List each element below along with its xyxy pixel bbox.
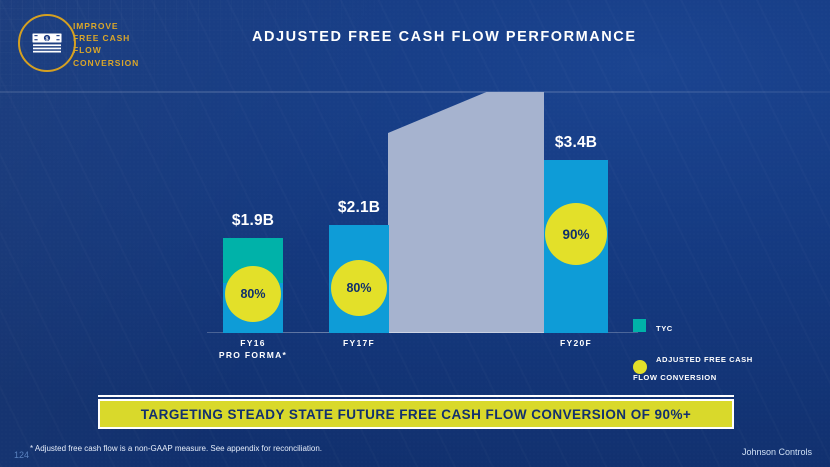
conversion-bubble-fy16: 80% <box>225 266 281 322</box>
category-label-fy16-line-2: PRO FORMA* <box>219 350 287 362</box>
bar-value-label-fy17f: $2.1B <box>338 199 380 217</box>
category-label-fy20f-line-1: FY20F <box>560 338 592 350</box>
svg-text:$: $ <box>46 36 49 42</box>
category-label-fy16-line-1: FY16 <box>219 338 287 350</box>
legend-swatch-tyc <box>633 319 646 332</box>
badge-caption: IMPROVE FREE CASH FLOW CONVERSION <box>73 20 139 69</box>
bar-value-label-fy16: $1.9B <box>232 212 274 230</box>
legend-label-tyc: TYC <box>656 324 673 333</box>
category-label-fy16: FY16 PRO FORMA* <box>219 338 287 361</box>
category-label-fy17f: FY17F <box>343 338 375 350</box>
badge-caption-line-1: IMPROVE <box>73 20 139 32</box>
legend-item-conversion[interactable]: ADJUSTED FREE CASH FLOW CONVERSION <box>633 349 753 385</box>
callout-banner: TARGETING STEADY STATE FUTURE FREE CASH … <box>98 399 734 429</box>
category-label-fy20f: FY20F <box>560 338 592 350</box>
conversion-bubble-fy20f: 90% <box>545 203 607 265</box>
page-title: ADJUSTED FREE CASH FLOW PERFORMANCE <box>252 29 637 45</box>
page-number: 124 <box>14 450 29 460</box>
footnote-text: * Adjusted free cash flow is a non-GAAP … <box>30 444 322 453</box>
conversion-bubble-fy17f: 80% <box>331 260 387 316</box>
slide-header: $ IMPROVE FREE CASH FLOW CONVERSION ADJU… <box>0 0 830 92</box>
legend-label-conversion: ADJUSTED FREE CASH FLOW CONVERSION <box>633 355 753 382</box>
banknote-badge: $ <box>18 14 76 72</box>
callout-banner-text: TARGETING STEADY STATE FUTURE FREE CASH … <box>141 407 692 422</box>
slide-root: $ IMPROVE FREE CASH FLOW CONVERSION ADJU… <box>0 0 830 467</box>
growth-wedge-annotation <box>388 92 544 333</box>
bar-chart: 80% $1.9B FY16 PRO FORMA* 80% $2.1B FY17… <box>0 92 830 367</box>
bar-fy20f[interactable]: 90% <box>544 160 608 333</box>
legend-item-tyc[interactable]: TYC <box>633 318 753 336</box>
bar-fy17f[interactable]: 80% <box>329 225 389 333</box>
legend-swatch-conversion <box>633 360 647 374</box>
banner-top-rule <box>98 395 734 397</box>
callout-banner-wrapper: TARGETING STEADY STATE FUTURE FREE CASH … <box>98 399 734 429</box>
brand-wordmark: Johnson Controls <box>742 447 812 457</box>
category-label-fy17f-line-1: FY17F <box>343 338 375 350</box>
bar-value-label-fy20f: $3.4B <box>555 134 597 152</box>
badge-caption-line-3: FLOW <box>73 44 139 56</box>
banknote-icon: $ <box>32 33 62 54</box>
badge-caption-line-4: CONVERSION <box>73 57 139 69</box>
bar-fy16[interactable]: 80% <box>223 238 283 333</box>
badge-caption-line-2: FREE CASH <box>73 32 139 44</box>
